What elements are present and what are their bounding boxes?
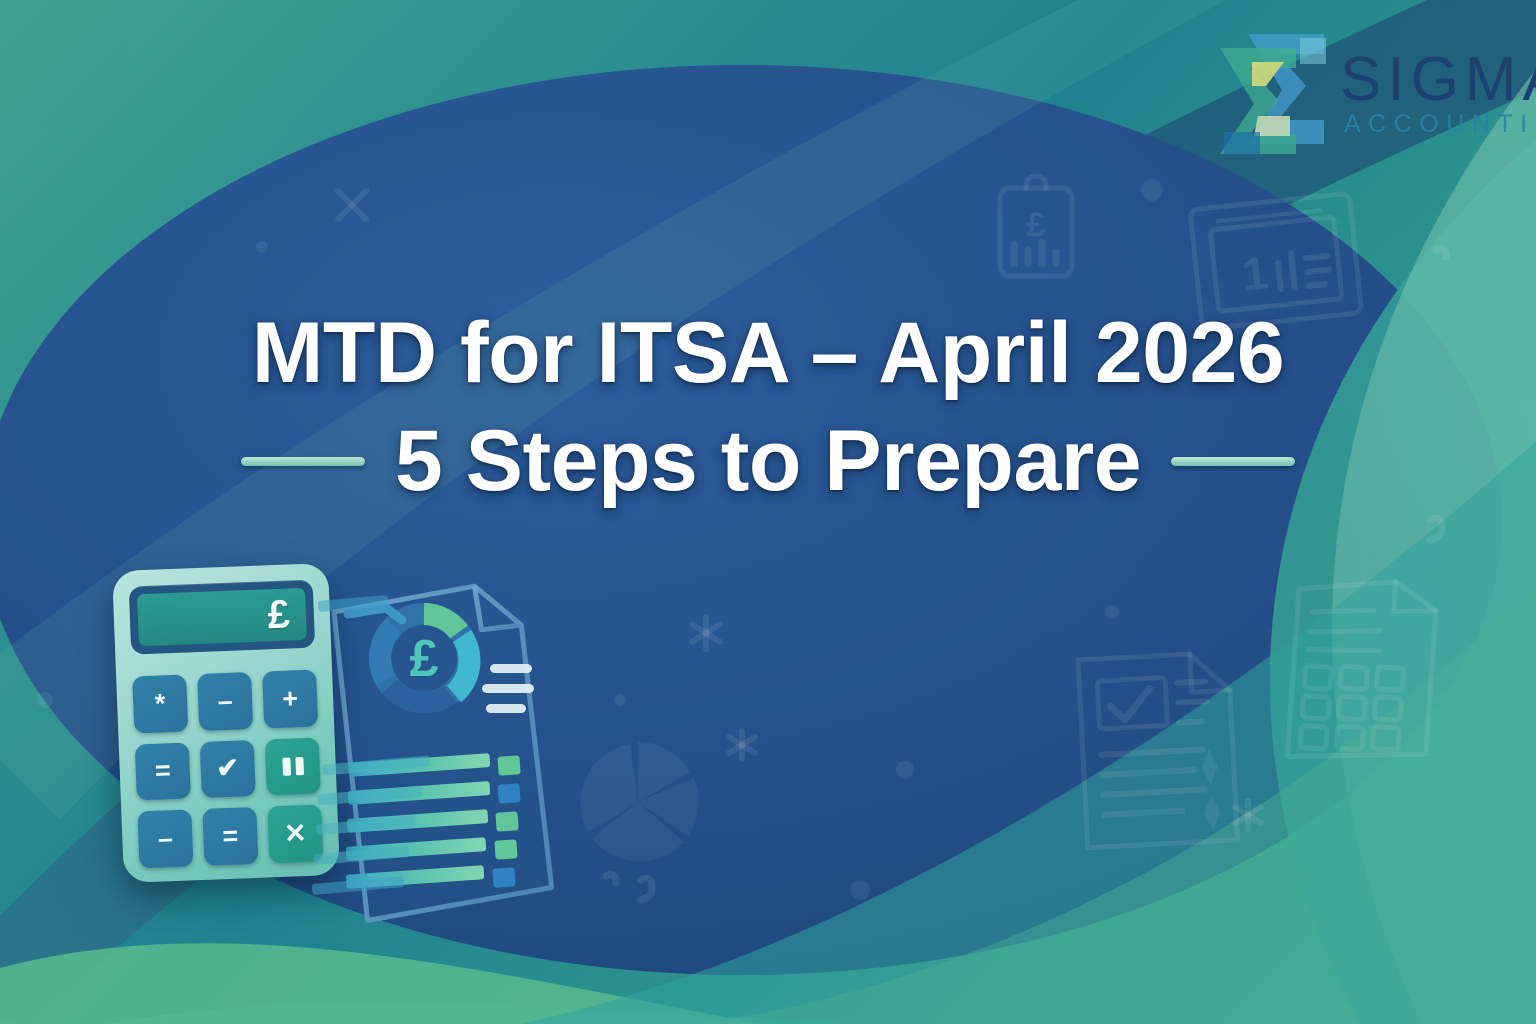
background-grain-texture xyxy=(0,0,1536,1024)
poster-canvas: £ 1 xyxy=(0,0,1536,1024)
